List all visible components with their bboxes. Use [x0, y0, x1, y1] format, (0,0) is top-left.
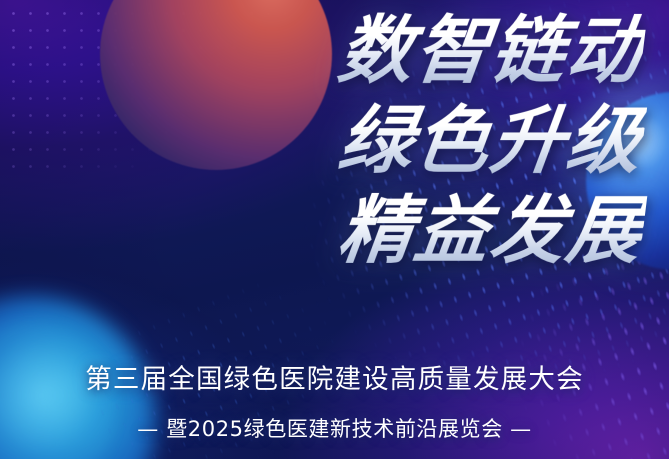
- headline-block: 数智链动 绿色升级 精益发展: [173, 2, 643, 280]
- conference-subtitle: — 暨2025绿色医建新技术前沿展览会 —: [0, 413, 669, 443]
- conference-title: 第三届全国绿色医院建设高质量发展大会: [0, 357, 669, 396]
- conference-poster: 数智链动 绿色升级 精益发展 第三届全国绿色医院建设高质量发展大会 — 暨202…: [0, 0, 669, 459]
- headline-line-2: 绿色升级: [167, 92, 649, 190]
- headline-line-1: 数智链动: [167, 2, 649, 100]
- conference-info-block: 第三届全国绿色医院建设高质量发展大会 — 暨2025绿色医建新技术前沿展览会 —: [0, 357, 669, 443]
- headline-line-3: 精益发展: [167, 182, 649, 280]
